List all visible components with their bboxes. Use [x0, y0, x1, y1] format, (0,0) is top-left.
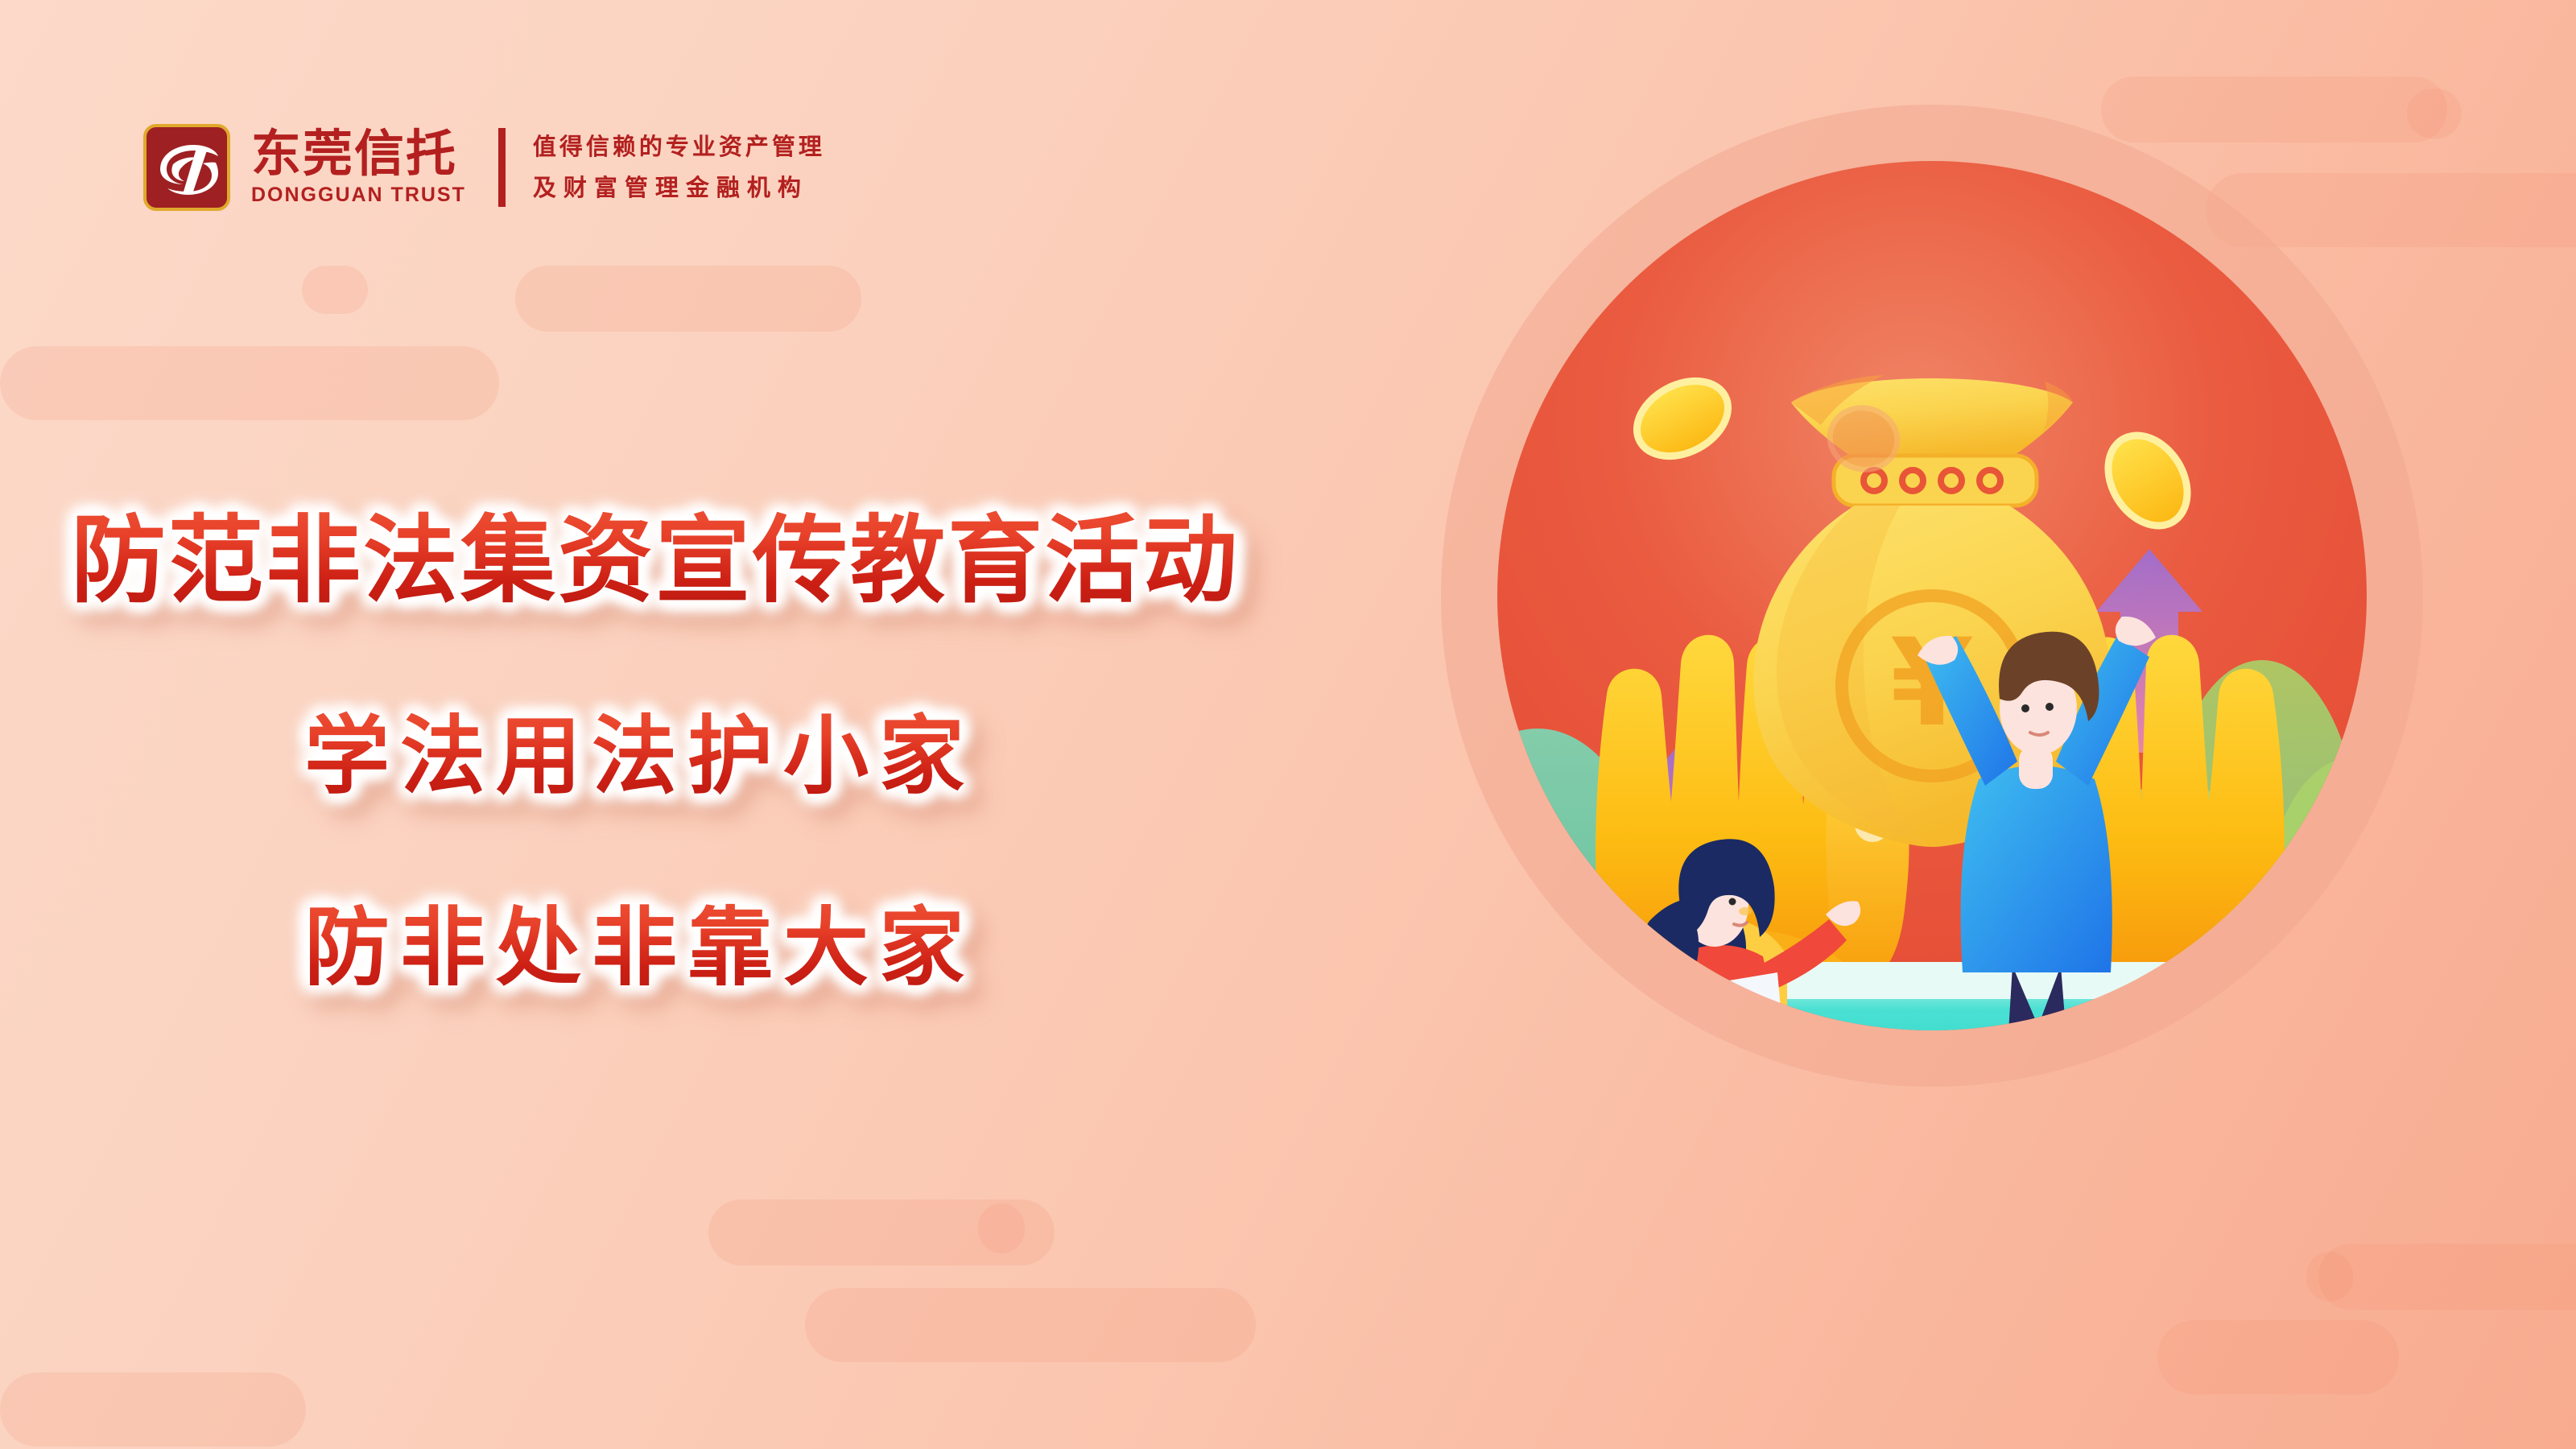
brand-tagline: 值得信赖的专业资产管理 及财富管理金融机构	[533, 124, 825, 211]
coin-stack-icon	[1544, 1099, 1739, 1226]
gold-ingot-icon	[2069, 1124, 2270, 1196]
headline-line-1: 防范非法集资宣传教育活动	[0, 483, 1417, 621]
headline-line-2: 学法用法护小家	[0, 687, 1417, 811]
headline-line-3: 防非处非靠大家	[0, 878, 1417, 1002]
deco-pill-bottom-mid-b	[805, 1288, 1256, 1362]
brand-logo-block: 东莞信托 DONGGUAN TRUST 值得信赖的专业资产管理 及财富管理金融机…	[143, 119, 825, 216]
deco-pill-top-left-b	[0, 346, 499, 420]
seal-stamp-icon	[1596, 1079, 1708, 1191]
anti-illegal-fundraising-illustration: ¥	[1336, 97, 2528, 1352]
justice-scale-icon	[1423, 1014, 1753, 1266]
tagline-line-1: 值得信赖的专业资产管理	[533, 135, 825, 159]
deco-dot-bottom-mid	[978, 1203, 1025, 1253]
deco-pill-bottom-mid-a	[708, 1199, 1055, 1265]
deco-pill-bottom-left	[0, 1373, 306, 1447]
deco-dot-top-left	[302, 266, 368, 314]
brand-name-cn: 东莞信托	[251, 128, 466, 179]
poster-canvas: 东莞信托 DONGGUAN TRUST 值得信赖的专业资产管理 及财富管理金融机…	[0, 0, 2576, 1449]
deco-pill-top-left-a	[515, 266, 861, 332]
brand-divider	[498, 128, 506, 207]
brand-name-group: 东莞信托 DONGGUAN TRUST	[251, 124, 466, 211]
tagline-line-2: 及财富管理金融机构	[533, 176, 825, 200]
brand-name-en: DONGGUAN TRUST	[251, 184, 466, 207]
headline-group: 防范非法集资宣传教育活动 学法用法护小家 防非处非靠大家	[0, 483, 1417, 1002]
dongguan-trust-swirl-logo	[143, 124, 230, 211]
law-book-icon	[1699, 1167, 2471, 1351]
